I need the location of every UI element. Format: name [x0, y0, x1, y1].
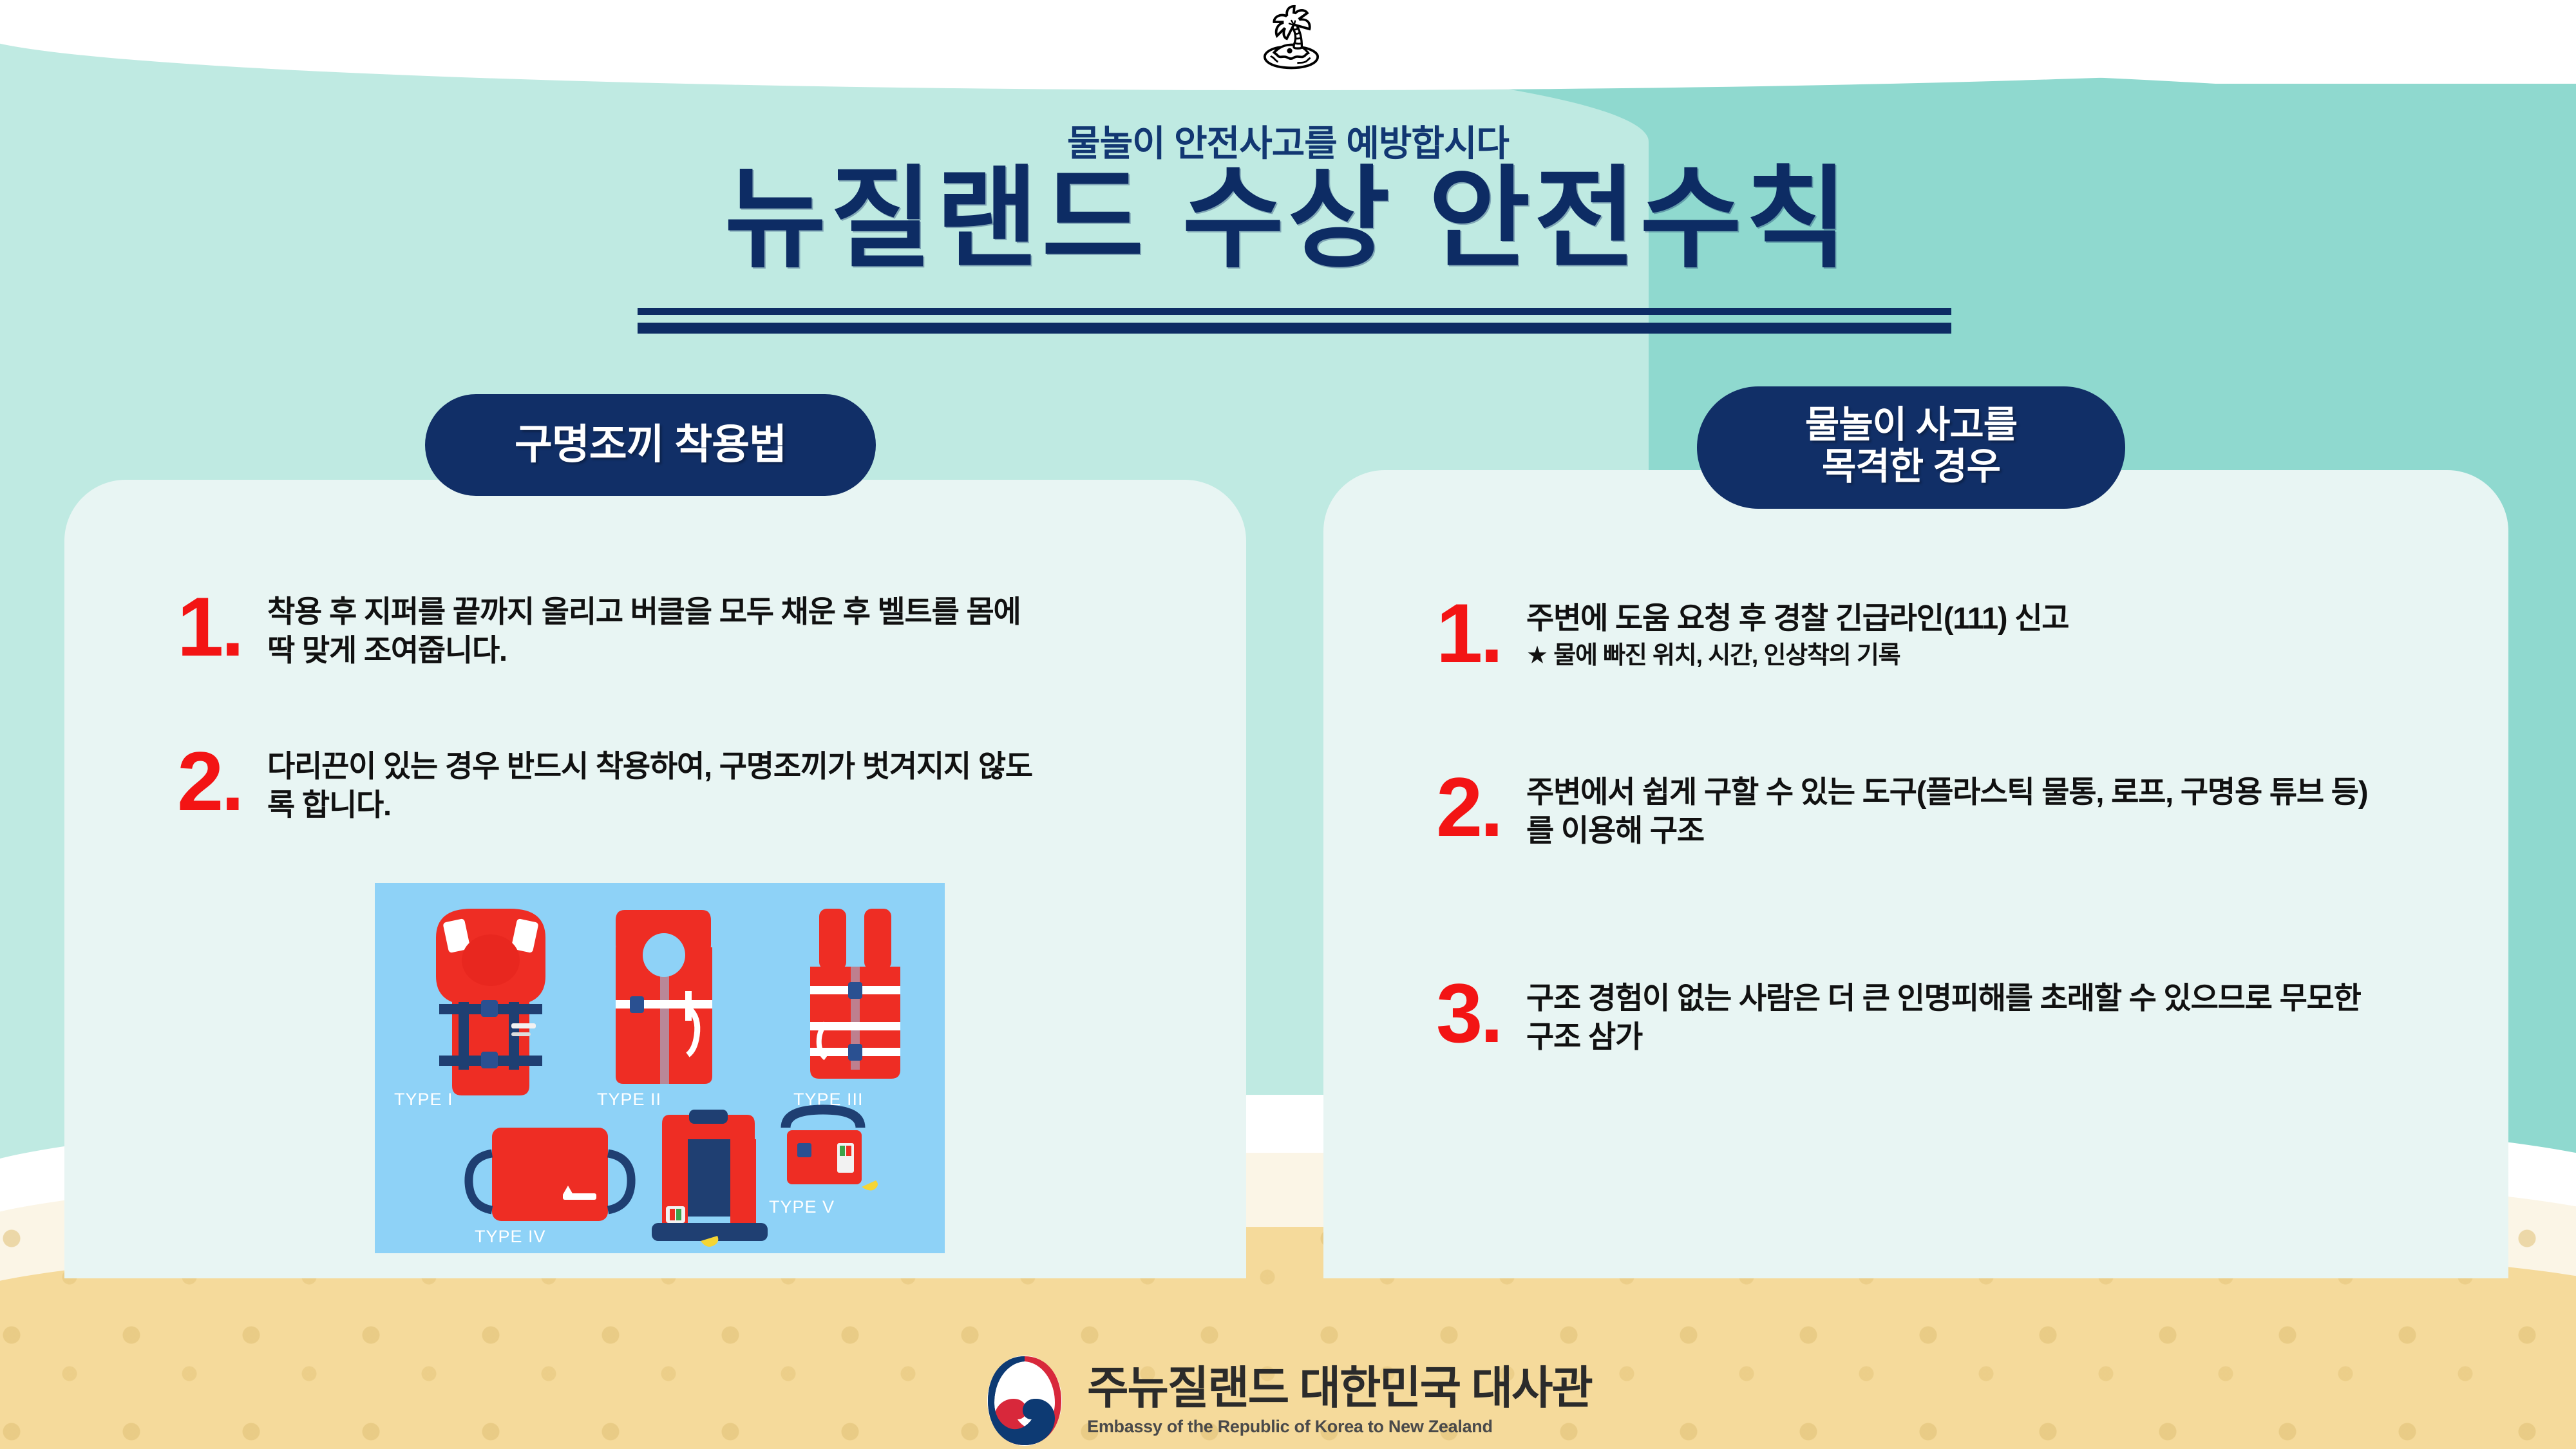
footer: 주뉴질랜드 대한민국 대사관 Embassy of the Republic o… [0, 1352, 2576, 1449]
footer-organization-en: Embassy of the Republic of Korea to New … [1087, 1417, 1592, 1437]
badge-line-1: 물놀이 사고를 [1805, 404, 2017, 446]
type-2-jacket [616, 910, 712, 1084]
rule-thick [638, 323, 1951, 334]
infographic-poster: 🏝 물놀이 안전사고를 예방합시다 뉴질랜드 수상 안전수칙 구명조끼 착용법 … [0, 0, 2576, 1449]
list-item-text: 주변에서 쉽게 구할 수 있는 도구(플라스틱 물통, 로프, 구명용 튜브 등… [1526, 773, 2389, 850]
list-item-number: 2. [1436, 773, 1526, 842]
list-item-number: 1. [1436, 599, 1526, 668]
panel-witness-accident-badge-label: 물놀이 사고를 목격한 경우 [1805, 404, 2017, 488]
life-jacket-types-illustration: TYPE I TYPE II [375, 883, 945, 1253]
svg-text:TYPE I: TYPE I [394, 1090, 453, 1109]
list-item: 3. 구조 경험이 없는 사람은 더 큰 인명피해를 초래할 수 있으므로 무모… [1436, 979, 2389, 1056]
list-item-number: 2. [177, 747, 267, 816]
korea-government-taegeuk-logo [984, 1352, 1065, 1449]
list-item: 2. 다리끈이 있는 경우 반드시 착용하여, 구명조끼가 벗겨지지 않도록 합… [177, 747, 1034, 824]
type-3-jacket [810, 909, 900, 1079]
type-5-inflatable [652, 1110, 768, 1247]
panel-witness-accident [1323, 470, 2508, 1278]
type-1-jacket [436, 909, 545, 1095]
poster-title: 뉴질랜드 수상 안전수칙 [0, 161, 2576, 278]
svg-text:TYPE II: TYPE II [597, 1090, 661, 1109]
list-item: 2. 주변에서 쉽게 구할 수 있는 도구(플라스틱 물통, 로프, 구명용 튜… [1436, 773, 2389, 850]
footer-text: 주뉴질랜드 대한민국 대사관 Embassy of the Republic o… [1087, 1365, 1592, 1437]
type-4-cushion [469, 1128, 631, 1221]
title-double-rule [638, 308, 1951, 334]
list-item-number: 1. [177, 592, 267, 661]
list-item-text: 구조 경험이 없는 사람은 더 큰 인명피해를 초래할 수 있으므로 무모한 구… [1526, 979, 2389, 1056]
list-item-text: 착용 후 지퍼를 끝까지 올리고 버클을 모두 채운 후 벨트를 몸에 딱 맞게… [267, 592, 1034, 670]
list-item-text: 다리끈이 있는 경우 반드시 착용하여, 구명조끼가 벗겨지지 않도록 합니다. [267, 747, 1034, 824]
svg-text:TYPE IV: TYPE IV [475, 1227, 546, 1246]
badge-line-2: 목격한 경우 [1822, 446, 2000, 488]
list-item-body: 주변에 도움 요청 후 경찰 긴급라인(111) 신고 ★ 물에 빠진 위치, … [1526, 599, 2069, 672]
rule-gap [638, 315, 1951, 323]
panel-life-jacket-badge-label: 구명조끼 착용법 [515, 422, 786, 468]
footer-organization-ko: 주뉴질랜드 대한민국 대사관 [1087, 1365, 1592, 1412]
panel-witness-accident-badge: 물놀이 사고를 목격한 경우 [1697, 386, 2125, 509]
list-item: 1. 주변에 도움 요청 후 경찰 긴급라인(111) 신고 ★ 물에 빠진 위… [1436, 599, 2389, 672]
panel-life-jacket-badge: 구명조끼 착용법 [425, 394, 876, 496]
list-item-note: ★ 물에 빠진 위치, 시간, 인상착의 기록 [1526, 640, 2069, 672]
island-with-palm-tree-icon: 🏝 [1246, 5, 1336, 82]
list-item: 1. 착용 후 지퍼를 끝까지 올리고 버클을 모두 채운 후 벨트를 몸에 딱… [177, 592, 1034, 670]
list-item-number: 3. [1436, 979, 1526, 1048]
list-item-text: 주변에 도움 요청 후 경찰 긴급라인(111) 신고 [1526, 599, 2069, 638]
svg-text:TYPE V: TYPE V [769, 1197, 835, 1217]
rule-thin [638, 308, 1951, 315]
